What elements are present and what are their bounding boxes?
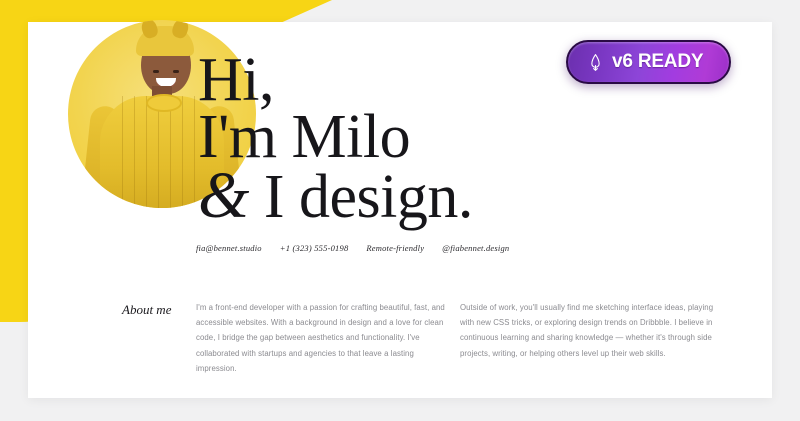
headline-line-3-rest: I design.: [249, 163, 473, 231]
portrait-eye-left: [153, 70, 159, 73]
headline-line-1: Hi,: [198, 52, 473, 109]
about-paragraph-right: Outside of work, you'll usually find me …: [460, 300, 722, 376]
portrait-headwrap-knot-right: [170, 20, 190, 40]
contact-email[interactable]: fia@bennet.studio: [196, 243, 262, 253]
portrait-headwrap-knot-left: [139, 20, 159, 40]
v6-ready-badge[interactable]: v6 READY: [566, 40, 731, 84]
ampersand-glyph: &: [198, 159, 249, 232]
contact-availability: Remote-friendly: [366, 243, 424, 253]
contact-handle[interactable]: @fiabennet.design: [442, 243, 509, 253]
about-paragraph-left: I'm a front-end developer with a passion…: [196, 300, 454, 376]
contact-phone[interactable]: +1 (323) 555-0198: [280, 243, 349, 253]
headline-line-2: I'm Milo: [198, 109, 473, 166]
portrait-headwrap: [136, 26, 194, 56]
contact-row: fia@bennet.studio +1 (323) 555-0198 Remo…: [196, 243, 509, 253]
about-section: About me I'm a front-end developer with …: [122, 300, 722, 376]
headline-line-3: & I design.: [198, 166, 473, 227]
portrait-eye-right: [173, 70, 179, 73]
about-label: About me: [122, 300, 198, 376]
portrait-collar: [146, 94, 182, 112]
rocket-icon: [588, 54, 603, 71]
v6-ready-badge-label: v6 READY: [612, 51, 703, 73]
page-title: Hi, I'm Milo & I design.: [198, 52, 473, 227]
page-root: Hi, I'm Milo & I design. fia@bennet.stud…: [0, 0, 800, 421]
